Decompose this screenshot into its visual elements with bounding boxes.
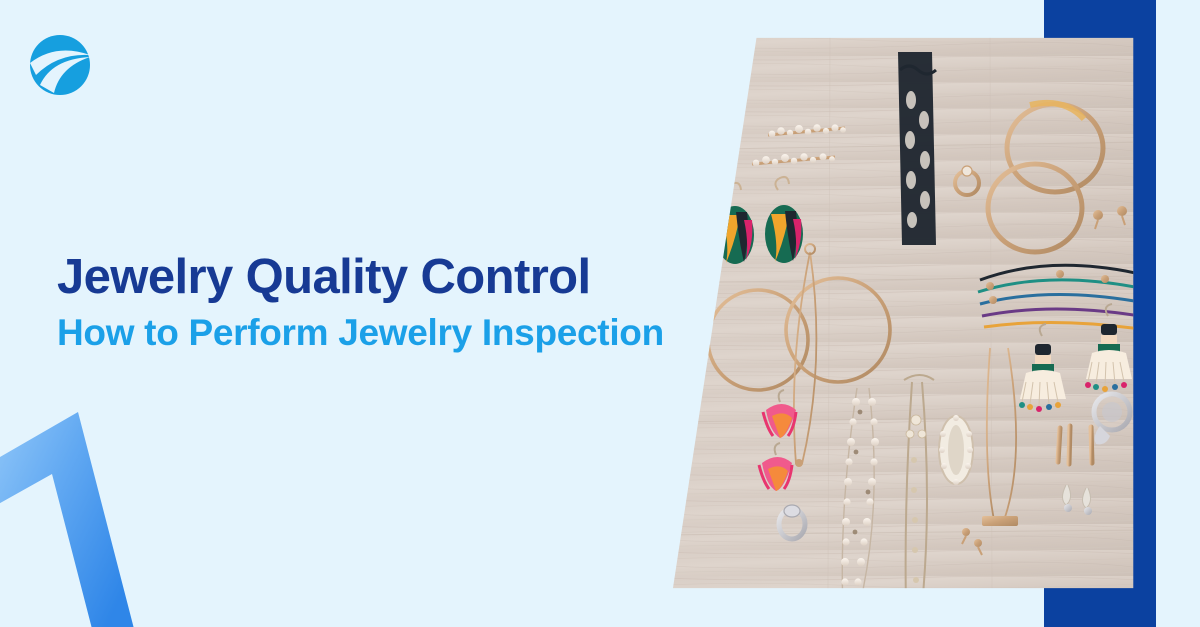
chevron-accent xyxy=(0,392,188,627)
jewelry-quality-control-banner: Jewelry Quality Control How to Perform J… xyxy=(0,0,1200,627)
banner-text-block: Jewelry Quality Control How to Perform J… xyxy=(57,250,757,354)
page-title: Jewelry Quality Control xyxy=(57,250,757,305)
brand-logo-icon xyxy=(28,33,92,97)
chevron-accent-svg xyxy=(0,392,188,627)
page-subtitle: How to Perform Jewelry Inspection xyxy=(57,312,757,355)
black-lace-choker xyxy=(898,52,936,245)
pearl-brooch xyxy=(939,415,973,485)
brand-logo[interactable] xyxy=(28,33,92,97)
